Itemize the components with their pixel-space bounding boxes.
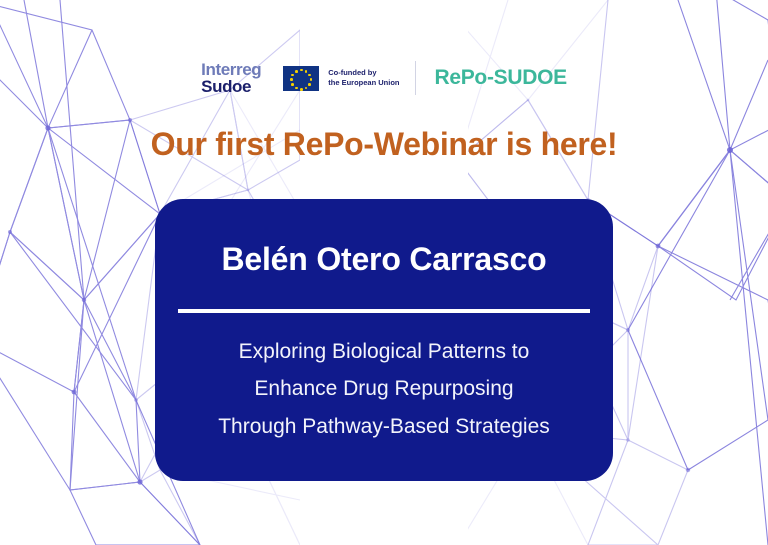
logo-strip: Interreg Sudoe Co-funded by the Europe — [0, 57, 768, 99]
eu-cofunding-logo: Co-funded by the European Union — [283, 66, 399, 91]
interreg-logo-line1: Interreg — [201, 61, 261, 78]
interreg-logo-line2: Sudoe — [201, 78, 251, 95]
eu-cofunding-line2: the European Union — [328, 78, 399, 87]
talk-title-line-2: Enhance Drug Repurposing — [155, 370, 613, 407]
page-title: Our first RePo-Webinar is here! — [0, 126, 768, 163]
speaker-name: Belén Otero Carrasco — [155, 241, 613, 278]
logo-divider — [415, 61, 416, 95]
eu-cofunding-text: Co-funded by the European Union — [328, 68, 399, 88]
repo-sudoe-logo: RePo-SUDOE — [434, 66, 566, 90]
interreg-sudoe-logo: Interreg Sudoe — [201, 61, 261, 95]
talk-title-line-3: Through Pathway-Based Strategies — [155, 408, 613, 445]
eu-cofunding-line1: Co-funded by — [328, 68, 376, 77]
european-union-flag-icon — [283, 66, 319, 91]
talk-title-line-1: Exploring Biological Patterns to — [155, 333, 613, 370]
webinar-announcement-poster: Interreg Sudoe Co-funded by the Europe — [0, 0, 768, 545]
talk-title: Exploring Biological Patterns to Enhance… — [155, 333, 613, 445]
card-divider-rule — [178, 309, 590, 313]
speaker-card: Belén Otero Carrasco Exploring Biologica… — [155, 199, 613, 481]
